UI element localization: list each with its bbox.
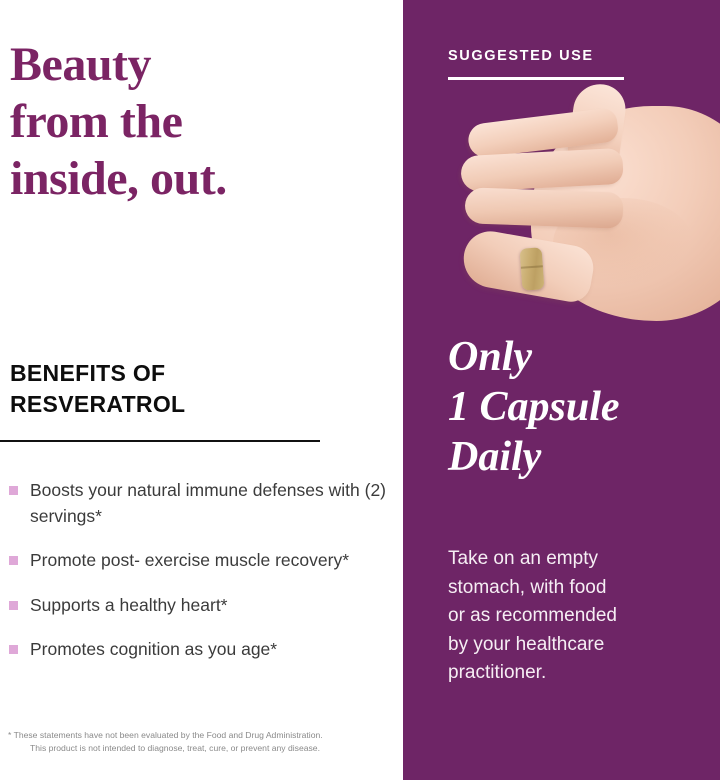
instruction-line-4: by your healthcare: [448, 631, 703, 660]
bullet-square-icon: [9, 556, 18, 565]
headline-line-1: Beauty: [10, 36, 340, 93]
hand-holding-capsule-image: [403, 78, 720, 340]
benefits-heading-line-2: RESVERATROL: [10, 389, 350, 420]
suggested-use-panel: SUGGESTED USE Only 1 Capsule Daily Take …: [403, 0, 720, 780]
list-item: Boosts your natural immune defenses with…: [9, 478, 394, 529]
ring-finger: [464, 187, 623, 228]
headline-line-3: inside, out.: [10, 150, 340, 207]
dosage-headline-line-2: 1 Capsule: [448, 382, 713, 432]
bullet-square-icon: [9, 645, 18, 654]
fda-disclaimer: * These statements have not been evaluat…: [8, 729, 368, 755]
bullet-square-icon: [9, 486, 18, 495]
benefits-divider: [0, 440, 320, 442]
left-content-panel: Beauty from the inside, out. BENEFITS OF…: [0, 0, 403, 780]
dosage-headline-line-1: Only: [448, 332, 713, 382]
benefit-text: Promote post- exercise muscle recovery*: [30, 550, 349, 570]
benefit-text: Supports a healthy heart*: [30, 595, 228, 615]
product-info-panel: Beauty from the inside, out. BENEFITS OF…: [0, 0, 720, 780]
dosage-instructions: Take on an empty stomach, with food or a…: [448, 545, 703, 688]
benefits-heading-line-1: BENEFITS OF: [10, 358, 350, 389]
benefits-heading: BENEFITS OF RESVERATROL: [10, 358, 350, 420]
headline-line-2: from the: [10, 93, 340, 150]
instruction-line-3: or as recommended: [448, 602, 703, 631]
benefits-list: Boosts your natural immune defenses with…: [9, 478, 394, 663]
bullet-square-icon: [9, 601, 18, 610]
disclaimer-line-2: This product is not intended to diagnose…: [8, 742, 368, 755]
list-item: Supports a healthy heart*: [9, 593, 394, 619]
instruction-line-1: Take on an empty: [448, 545, 703, 574]
list-item: Promote post- exercise muscle recovery*: [9, 548, 394, 574]
section-label: SUGGESTED USE: [448, 48, 594, 64]
instruction-line-2: stomach, with food: [448, 574, 703, 603]
instruction-line-5: practitioner.: [448, 659, 703, 688]
capsule-icon: [520, 247, 545, 290]
dosage-headline-line-3: Daily: [448, 432, 713, 482]
benefit-text: Promotes cognition as you age*: [30, 639, 277, 659]
disclaimer-line-1: * These statements have not been evaluat…: [8, 729, 368, 742]
benefit-text: Boosts your natural immune defenses with…: [30, 480, 386, 526]
dosage-headline: Only 1 Capsule Daily: [448, 332, 713, 482]
list-item: Promotes cognition as you age*: [9, 637, 394, 663]
page-title: Beauty from the inside, out.: [10, 36, 340, 207]
